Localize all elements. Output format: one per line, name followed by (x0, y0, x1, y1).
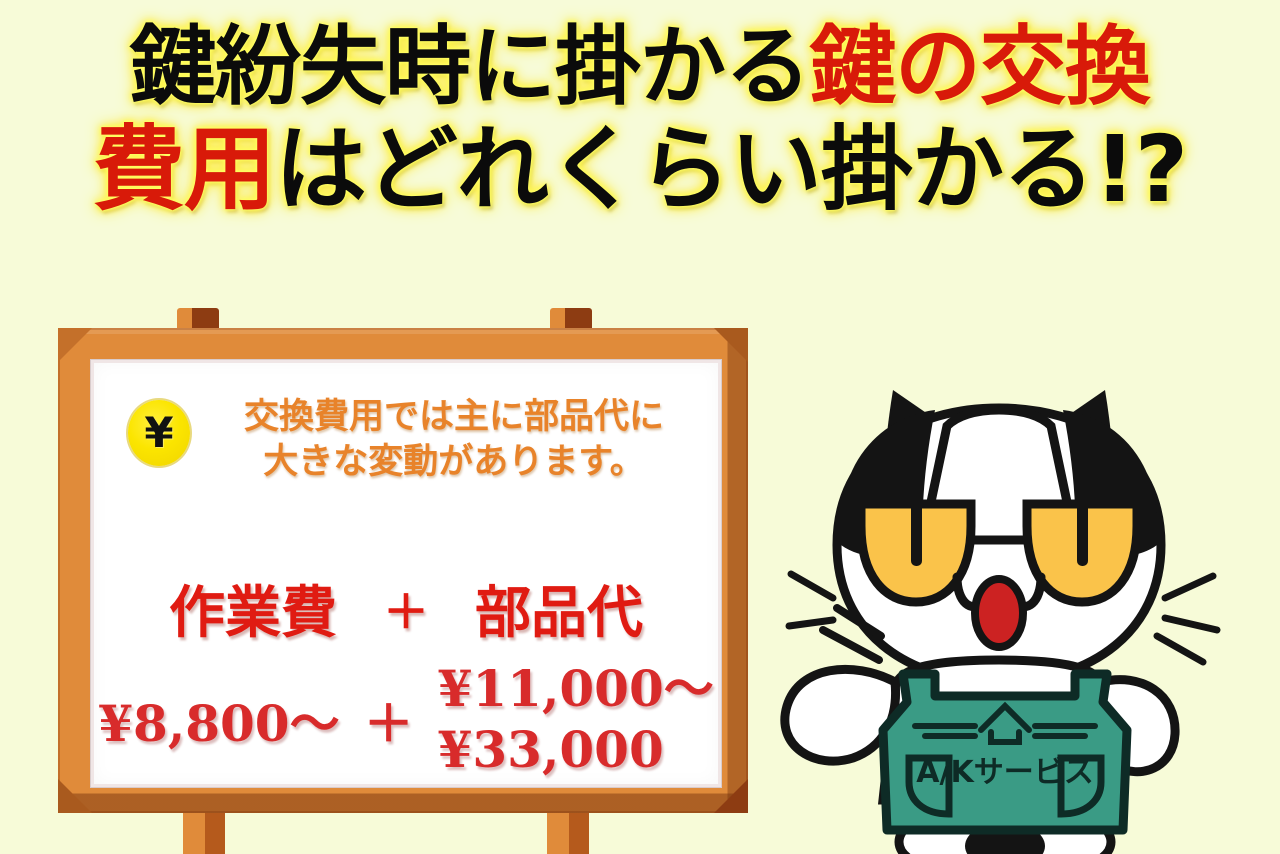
headline-line1-black: 鍵紛失時に掛かる (130, 17, 810, 117)
cat-apron: A/Kサービス (883, 674, 1127, 830)
frame-corner-bottom-left (58, 779, 92, 813)
cat-tongue (975, 579, 1023, 647)
label-parts: 部品代 (475, 568, 643, 649)
board-note-line-2: 大きな変動があります。 (204, 440, 704, 485)
headline-line2-red: 費用 (93, 116, 275, 223)
price-plus-operator: ＋ (364, 684, 414, 756)
price-parts: ¥11,000〜 ¥33,000 (438, 663, 714, 776)
headline-line2-black: はどれくらい掛かる!? (275, 116, 1187, 223)
label-labor: 作業費 (169, 568, 337, 649)
poster-canvas: 鍵紛失時に掛かる鍵の交換 費用はどれくらい掛かる!? ¥ 交換費用では主に部品代… (0, 0, 1280, 854)
headline-line-1: 鍵紛失時に掛かる鍵の交換 (0, 24, 1280, 110)
cat-paw-left (785, 669, 896, 761)
board-note: 交換費用では主に部品代に 大きな変動があります。 (204, 395, 704, 485)
cat-mascot: A/Kサービス (775, 330, 1280, 854)
board-wooden-frame: ¥ 交換費用では主に部品代に 大きな変動があります。 作業費 ＋ 部品代 ¥8,… (58, 328, 748, 813)
headline-line1-red: 鍵の交換 (810, 17, 1150, 117)
headline-line-2: 費用はどれくらい掛かる!? (0, 124, 1280, 216)
cost-values-row: ¥8,800〜 ＋ ¥11,000〜 ¥33,000 (94, 663, 718, 776)
frame-corner-top-left (58, 328, 92, 362)
yen-symbol: ¥ (144, 412, 173, 454)
yen-coin-icon: ¥ (128, 400, 190, 466)
whiteboard: ¥ 交換費用では主に部品代に 大きな変動があります。 作業費 ＋ 部品代 ¥8,… (55, 300, 775, 854)
headline: 鍵紛失時に掛かる鍵の交換 費用はどれくらい掛かる!? (0, 24, 1280, 216)
frame-corner-top-right (714, 328, 748, 362)
price-parts-line-2: ¥33,000 (438, 724, 714, 777)
cost-labels-row: 作業費 ＋ 部品代 (94, 568, 718, 649)
price-labor: ¥8,800〜 (98, 684, 339, 756)
apron-label: A/Kサービス (916, 755, 1093, 790)
board-note-line-1: 交換費用では主に部品代に (244, 397, 664, 437)
board-panel: ¥ 交換費用では主に部品代に 大きな変動があります。 作業費 ＋ 部品代 ¥8,… (91, 360, 721, 787)
label-plus-operator: ＋ (383, 576, 429, 642)
price-parts-line-1: ¥11,000〜 (438, 663, 714, 716)
